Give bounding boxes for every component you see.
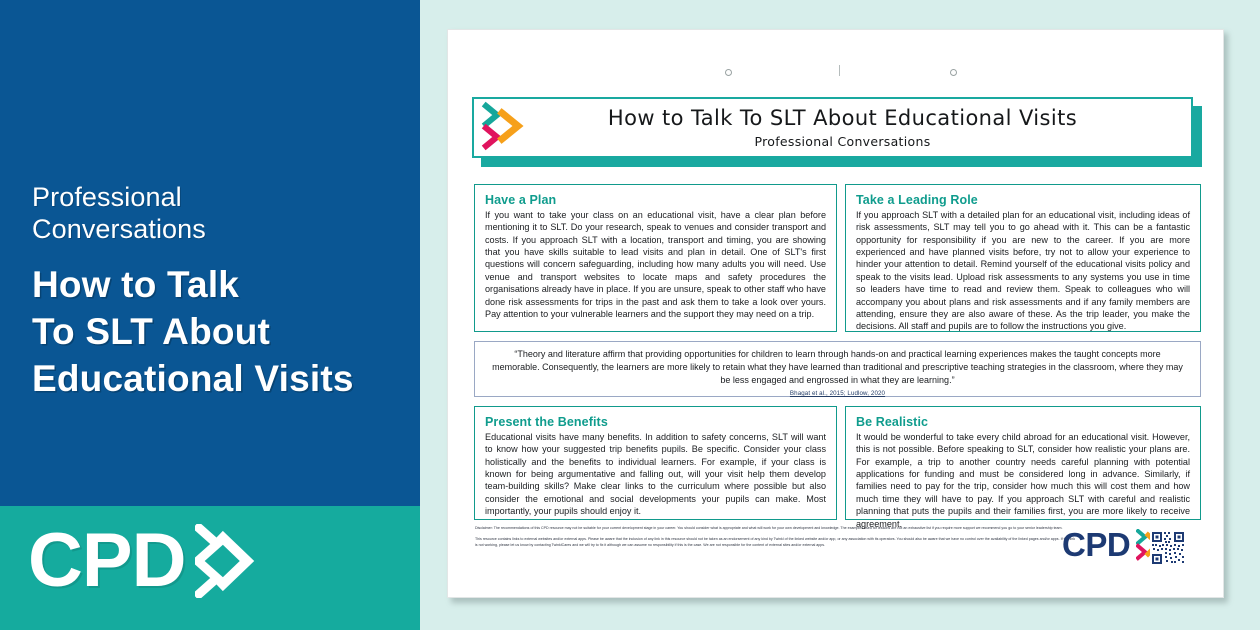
content-box-body: Educational visits have many benefits. I… (485, 431, 826, 518)
quotation-box: “Theory and literature affirm that provi… (474, 341, 1201, 397)
content-box-title: Take a Leading Role (856, 193, 1190, 207)
content-box-have-a-plan: Have a Plan If you want to take your cla… (474, 184, 837, 332)
disclaimer: Disclaimer: The recommendations of this … (475, 526, 1075, 553)
promo-subtitle: Professional Conversations (32, 182, 412, 245)
document-subtitle: Professional Conversations (546, 134, 1139, 149)
promo-cpd-wordmark: CPD (28, 525, 185, 597)
screenshot-stage: Professional Conversations How to Talk T… (0, 0, 1260, 630)
double-chevron-icon (195, 524, 265, 598)
content-box-body: It would be wonderful to take every chil… (856, 431, 1190, 530)
hole-punch-mark-left-icon (725, 69, 732, 76)
promo-title: How to Talk To SLT About Educational Vis… (32, 262, 418, 403)
document-header-box: How to Talk To SLT About Educational Vis… (472, 97, 1193, 158)
promo-panel-blue (0, 0, 420, 506)
twinkl-cpd-chevron-logo-icon (480, 100, 546, 156)
promo-subtitle-line-1: Professional (32, 182, 412, 214)
quotation-text: “Theory and literature affirm that provi… (491, 348, 1184, 387)
content-box-body: If you want to take your class on an edu… (485, 209, 826, 320)
promo-title-line-2: To SLT About (32, 309, 418, 356)
promo-subtitle-line-2: Conversations (32, 214, 412, 246)
document-header-titles: How to Talk To SLT About Educational Vis… (546, 106, 1191, 149)
promo-cpd-logo: CPD (28, 524, 265, 598)
disclaimer-paragraph-1: Disclaimer: The recommendations of this … (475, 526, 1075, 532)
qr-code-icon[interactable] (1150, 530, 1186, 566)
quotation-citation: Bhagat et al., 2015; Ludlow, 2020 (491, 390, 1184, 397)
document-title: How to Talk To SLT About Educational Vis… (546, 106, 1139, 131)
hole-punch-mark-right-icon (950, 69, 957, 76)
center-tick-mark-icon (839, 65, 840, 76)
content-box-title: Present the Benefits (485, 415, 826, 429)
promo-title-line-1: How to Talk (32, 262, 418, 309)
content-box-take-a-leading-role: Take a Leading Role If you approach SLT … (845, 184, 1201, 332)
content-box-be-realistic: Be Realistic It would be wonderful to ta… (845, 406, 1201, 520)
content-box-title: Be Realistic (856, 415, 1190, 429)
footer-cpd-wordmark: CPD (1062, 528, 1130, 561)
promo-title-line-3: Educational Visits (32, 356, 418, 403)
content-box-title: Have a Plan (485, 193, 826, 207)
document-header: How to Talk To SLT About Educational Vis… (472, 97, 1202, 167)
content-box-body: If you approach SLT with a detailed plan… (856, 209, 1190, 333)
disclaimer-paragraph-2: This resource contains links to external… (475, 537, 1075, 549)
content-box-present-the-benefits: Present the Benefits Educational visits … (474, 406, 837, 520)
document-page: How to Talk To SLT About Educational Vis… (447, 29, 1224, 598)
